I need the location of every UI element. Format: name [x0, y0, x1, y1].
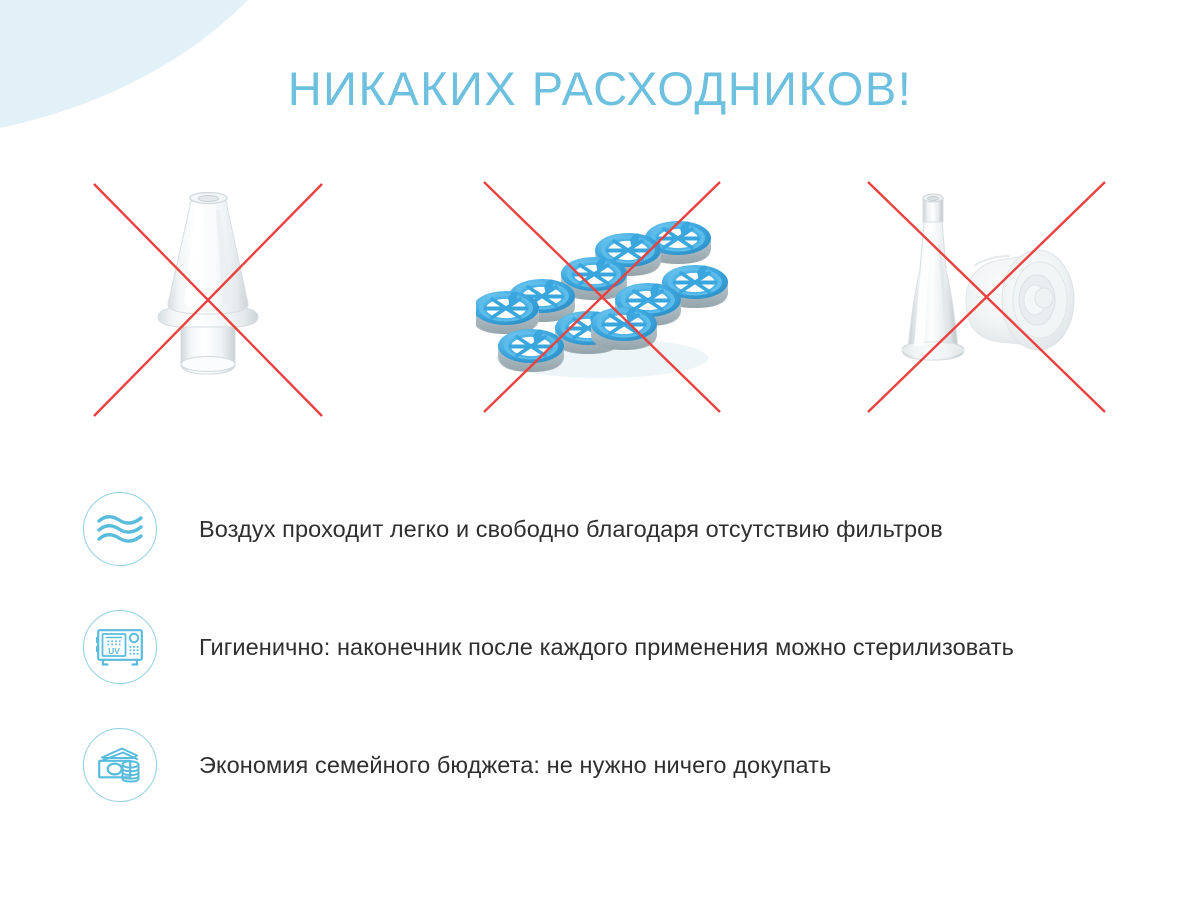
slide-root: НИКАКИХ РАСХОДНИКОВ! — [0, 0, 1200, 900]
disposable-filters-illustration — [476, 174, 728, 420]
feature-item-savings: Экономия семейного бюджета: не нужно нич… — [0, 726, 1200, 804]
money-savings-icon-circle — [83, 728, 157, 802]
air-waves-icon-circle — [83, 492, 157, 566]
feature-label: Воздух проходит легко и свободно благода… — [199, 514, 943, 544]
page-title: НИКАКИХ РАСХОДНИКОВ! — [0, 60, 1200, 118]
uv-sterilizer-icon: UV — [96, 626, 144, 668]
product-white-nozzles — [862, 174, 1112, 418]
nasal-aspirator-tip-illustration — [88, 176, 328, 420]
feature-list: Воздух проходит легко и свободно благода… — [0, 490, 1200, 844]
air-waves-icon — [97, 512, 143, 546]
feature-label: Экономия семейного бюджета: не нужно нич… — [199, 750, 831, 780]
money-savings-icon — [96, 744, 144, 786]
feature-item-sterilize: UV — [0, 608, 1200, 686]
crossed-out-consumables-row — [0, 170, 1200, 430]
feature-label: Гигиенично: наконечник после каждого при… — [199, 632, 1014, 662]
svg-text:UV: UV — [108, 646, 120, 656]
feature-item-air-flow: Воздух проходит легко и свободно благода… — [0, 490, 1200, 568]
white-nozzle-pair-illustration — [862, 174, 1112, 418]
product-disposable-filters — [476, 174, 728, 420]
product-nasal-aspirator-tip — [88, 176, 328, 420]
uv-sterilizer-icon-circle: UV — [83, 610, 157, 684]
